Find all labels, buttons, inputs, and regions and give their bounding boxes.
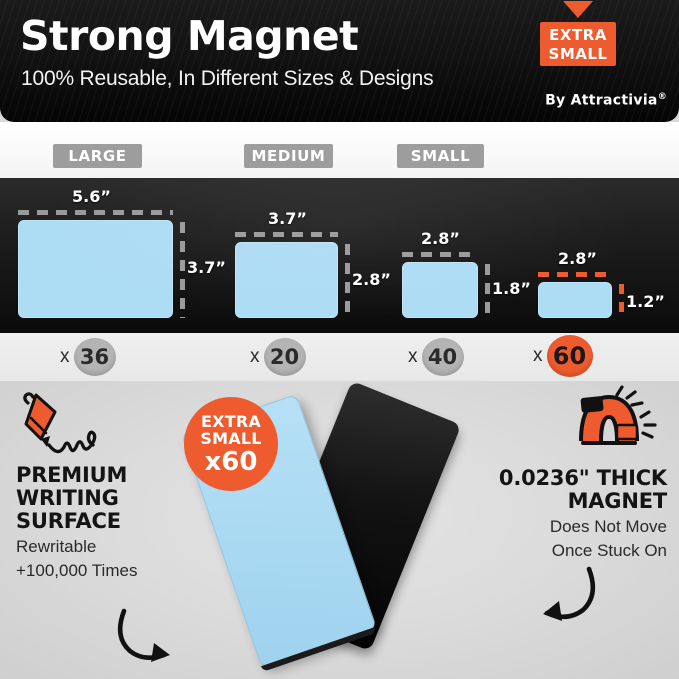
quantity-small-prefix: x (408, 346, 418, 368)
tab-small[interactable]: SMALL (397, 144, 484, 168)
tab-medium[interactable]: MEDIUM (244, 144, 333, 168)
feature-right-title-line2: MAGNET (475, 490, 667, 513)
feature-right-sub-line1: Does Not Move (475, 516, 667, 537)
feature-section: PREMIUM WRITING SURFACE Rewritable +100,… (0, 381, 679, 679)
magnet-swatch-large (18, 220, 173, 318)
product-quantity-badge: EXTRA SMALL x60 (184, 397, 278, 491)
pen-writing-icon (14, 389, 106, 466)
product-photo: EXTRA SMALL x60 (170, 381, 500, 679)
quantity-extra-small: x 60 (533, 335, 593, 377)
horseshoe-magnet-icon (575, 385, 667, 466)
feature-left-title-line2: WRITING (16, 487, 137, 510)
feature-left-sub-line1: Rewritable (16, 536, 137, 557)
brand-label: By Attractivia® (545, 92, 667, 109)
large-height-dimension-line (180, 222, 185, 318)
page-title: Strong Magnet (20, 16, 358, 57)
quantity-extra-small-prefix: x (533, 345, 543, 367)
quantity-large-value: 36 (74, 338, 116, 376)
tab-extra-small-line2: SMALL (540, 45, 616, 64)
product-infographic: Strong Magnet 100% Reusable, In Differen… (0, 0, 679, 679)
magnet-swatch-small (402, 262, 478, 318)
extra-small-height-dimension-line (619, 284, 624, 318)
tab-extra-small[interactable]: EXTRA SMALL (540, 22, 616, 66)
small-width-dimension-line (402, 252, 478, 257)
extra-small-width-label: 2.8” (558, 249, 597, 268)
feature-left-title-line1: PREMIUM (16, 464, 137, 487)
feature-right-title-line1: 0.0236" THICK (475, 467, 667, 490)
small-height-dimension-line (485, 264, 490, 318)
feature-left-title-line3: SURFACE (16, 510, 137, 533)
badge-line2: SMALL (200, 430, 261, 447)
magnet-swatch-extra-small (538, 282, 612, 318)
quantity-medium-prefix: x (250, 346, 260, 368)
small-width-label: 2.8” (421, 229, 460, 248)
extra-small-height-label: 1.2” (626, 292, 665, 311)
quantity-row: x 36 x 20 x 40 x 60 (0, 333, 679, 381)
medium-height-dimension-line (345, 244, 350, 318)
page-subtitle: 100% Reusable, In Different Sizes & Desi… (21, 68, 433, 89)
badge-line3: x60 (205, 448, 258, 476)
quantity-medium-value: 20 (264, 338, 306, 376)
quantity-medium: x 20 (250, 338, 306, 376)
tab-large[interactable]: LARGE (53, 144, 142, 168)
quantity-extra-small-value: 60 (547, 335, 593, 377)
small-height-label: 1.8” (492, 279, 531, 298)
quantity-small-value: 40 (422, 338, 464, 376)
medium-height-label: 2.8” (352, 270, 391, 289)
extra-small-width-dimension-line (538, 272, 612, 277)
medium-width-label: 3.7” (268, 209, 307, 228)
quantity-large-prefix: x (60, 346, 70, 368)
quantity-small: x 40 (408, 338, 464, 376)
size-comparison-panel: 5.6” 3.7” 3.7” 2.8” 2.8” 1.8” 2.8” 1.2” (0, 178, 679, 333)
badge-line1: EXTRA (201, 413, 261, 430)
magnet-swatch-medium (235, 242, 338, 318)
tab-extra-small-line1: EXTRA (540, 26, 616, 45)
brand-name: By Attractivia (545, 93, 658, 109)
quantity-large: x 36 (60, 338, 116, 376)
curved-arrow-left-icon (527, 565, 597, 640)
medium-width-dimension-line (235, 232, 338, 237)
large-width-dimension-line (18, 210, 173, 215)
large-height-label: 3.7” (187, 258, 226, 277)
feature-right-sub-line2: Once Stuck On (475, 540, 667, 561)
feature-left-sub-line2: +100,000 Times (16, 560, 137, 581)
selected-size-pointer-icon (563, 1, 593, 18)
registered-trademark-icon: ® (658, 92, 667, 102)
size-tab-strip: LARGE MEDIUM SMALL (0, 122, 679, 178)
large-width-label: 5.6” (72, 187, 111, 206)
